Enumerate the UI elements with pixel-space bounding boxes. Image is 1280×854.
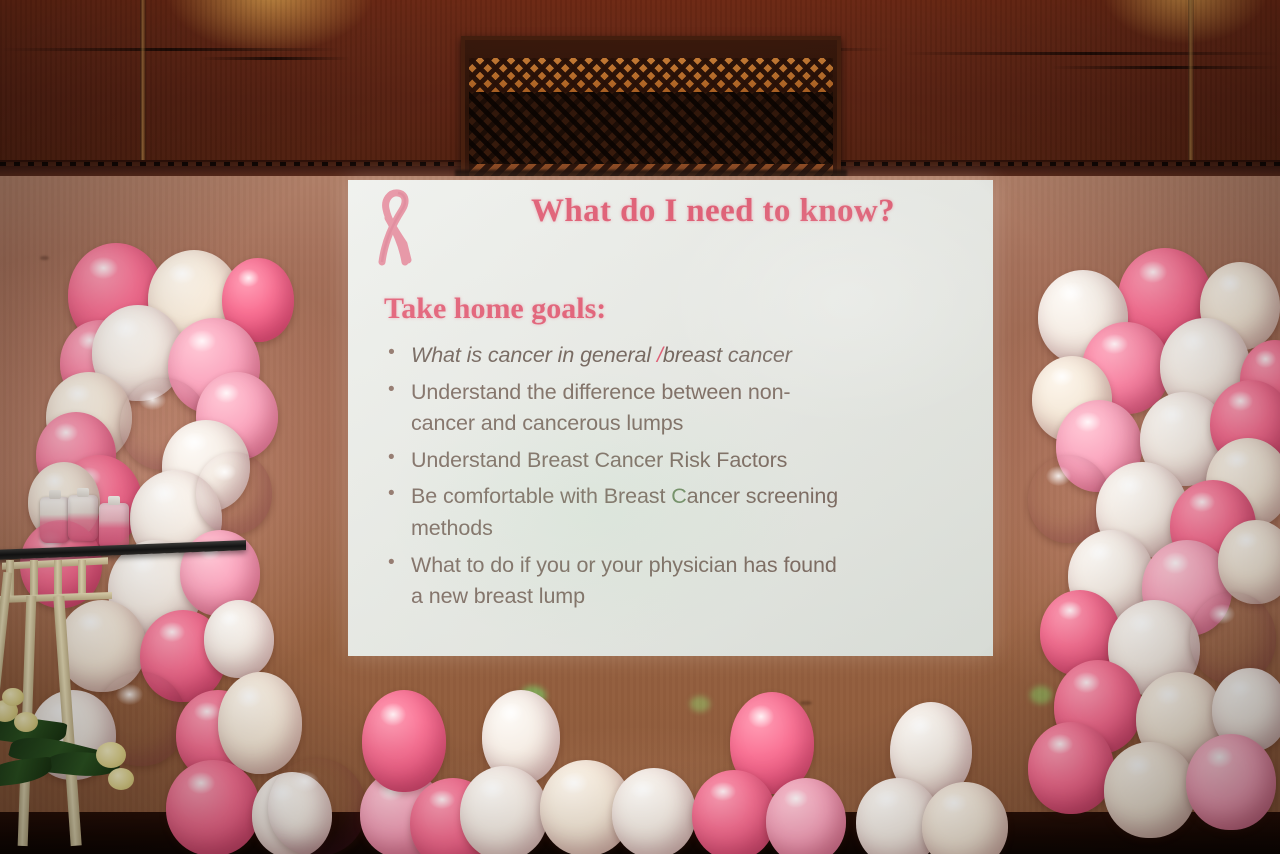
bullet-text-part: Be comfortable with Breast bbox=[411, 484, 671, 508]
bullet-text-line: Understand Breast Cancer Risk Factors bbox=[411, 448, 787, 472]
slide-bullet-list: What is cancer in general /breast cancer… bbox=[380, 340, 970, 618]
list-item: What to do if you or your physician has … bbox=[380, 550, 970, 613]
bullet-text-line: cancer and cancerous lumps bbox=[411, 411, 683, 435]
bullet-text-line: What to do if you or your physician has … bbox=[411, 553, 837, 577]
water-bottle bbox=[68, 495, 98, 541]
pink-awareness-ribbon-icon bbox=[362, 188, 424, 266]
bullet-text-line: methods bbox=[411, 516, 493, 540]
projected-slide: What do I need to know? Take home goals:… bbox=[348, 180, 993, 656]
water-bottle bbox=[40, 497, 70, 543]
bullet-text-part: breast cancer bbox=[663, 343, 792, 367]
list-item: Be comfortable with Breast Cancer screen… bbox=[380, 481, 970, 544]
presentation-room-photo: What do I need to know? Take home goals:… bbox=[0, 0, 1280, 854]
list-item: Understand the difference between non-ca… bbox=[380, 377, 970, 440]
slide-section-heading: Take home goals: bbox=[384, 292, 606, 326]
decorative-lattice-grille bbox=[461, 36, 841, 184]
bullet-text-line: a new breast lump bbox=[411, 584, 585, 608]
list-item: What is cancer in general /breast cancer bbox=[380, 340, 970, 372]
slide-title: What do I need to know? bbox=[453, 193, 973, 230]
bullet-text-line: Understand the difference between non- bbox=[411, 380, 790, 404]
bullet-text-part: ancer screening bbox=[687, 484, 838, 508]
bullet-text-part: What is cancer in general bbox=[411, 343, 657, 367]
bullet-text-highlight: C bbox=[671, 484, 686, 508]
water-bottle bbox=[99, 503, 129, 549]
list-item: Understand Breast Cancer Risk Factors bbox=[380, 445, 970, 477]
